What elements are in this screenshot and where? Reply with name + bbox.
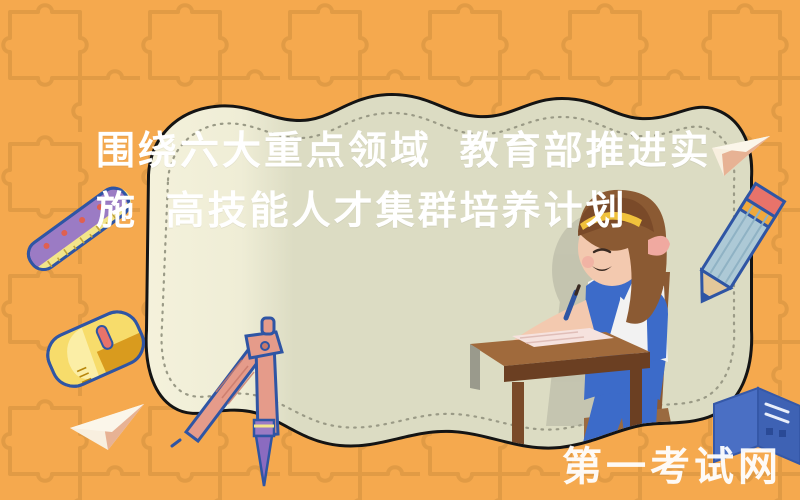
paper-airplane-right xyxy=(712,136,770,176)
poster-canvas: 围绕六大重点领域 教育部推进实施 高技能人才集群培养计划 第一考试网 xyxy=(0,0,800,500)
site-watermark: 第一考试网 xyxy=(562,434,782,492)
pencil xyxy=(687,184,785,312)
eraser xyxy=(41,305,151,393)
ruler xyxy=(23,181,137,275)
paper-airplane-left xyxy=(70,404,144,450)
stationery-layer xyxy=(0,0,800,500)
compass xyxy=(172,318,282,486)
